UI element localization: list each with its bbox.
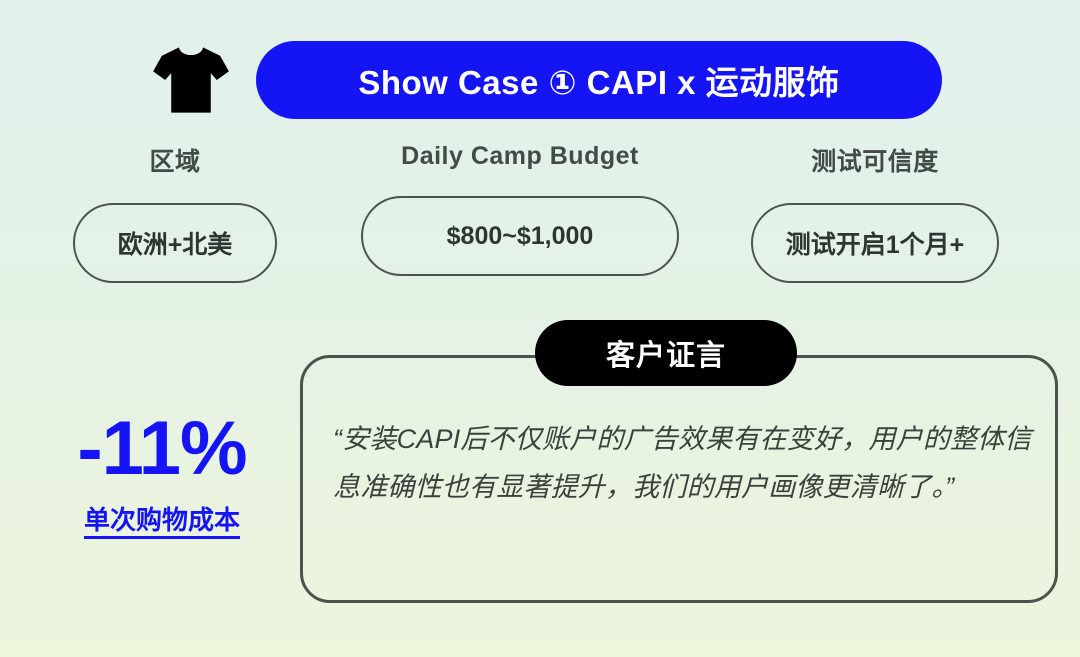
metric-block: -11% 单次购物成本 (46, 412, 278, 537)
stat-label: Daily Camp Budget (401, 142, 639, 171)
stat-pill: $800~$1,000 (361, 196, 679, 276)
page-title: Show Case ① CAPI x 运动服饰 (358, 56, 839, 104)
stat-label: 区域 (149, 142, 200, 178)
stat-value: $800~$1,000 (447, 222, 594, 251)
stat-pill: 欧洲+北美 (73, 203, 277, 283)
header: Show Case ① CAPI x 运动服饰 (0, 32, 1080, 128)
testimonial-badge: 客户证言 (535, 320, 797, 386)
header-banner: Show Case ① CAPI x 运动服饰 (256, 41, 942, 119)
stat-region: 区域 欧洲+北美 (0, 142, 350, 283)
stat-test-confidence: 测试可信度 测试开启1个月+ (690, 142, 1060, 283)
metric-caption: 单次购物成本 (46, 500, 278, 537)
stat-daily-camp-budget: Daily Camp Budget $800~$1,000 (350, 142, 690, 283)
stat-label: 测试可信度 (811, 142, 939, 178)
stats-row: 区域 欧洲+北美 Daily Camp Budget $800~$1,000 测… (0, 142, 1080, 283)
tshirt-icon (148, 37, 234, 123)
stat-pill: 测试开启1个月+ (751, 203, 999, 283)
showcase-slide: Show Case ① CAPI x 运动服饰 区域 欧洲+北美 Daily C… (0, 0, 1080, 657)
testimonial-badge-label: 客户证言 (606, 332, 726, 374)
stat-value: 测试开启1个月+ (786, 225, 965, 261)
metric-value: -11% (46, 412, 278, 486)
stat-value: 欧洲+北美 (118, 225, 233, 261)
testimonial-quote: “安装CAPI后不仅账户的广告效果有在变好，用户的整体信息准确性也有显著提升，我… (333, 415, 1033, 511)
